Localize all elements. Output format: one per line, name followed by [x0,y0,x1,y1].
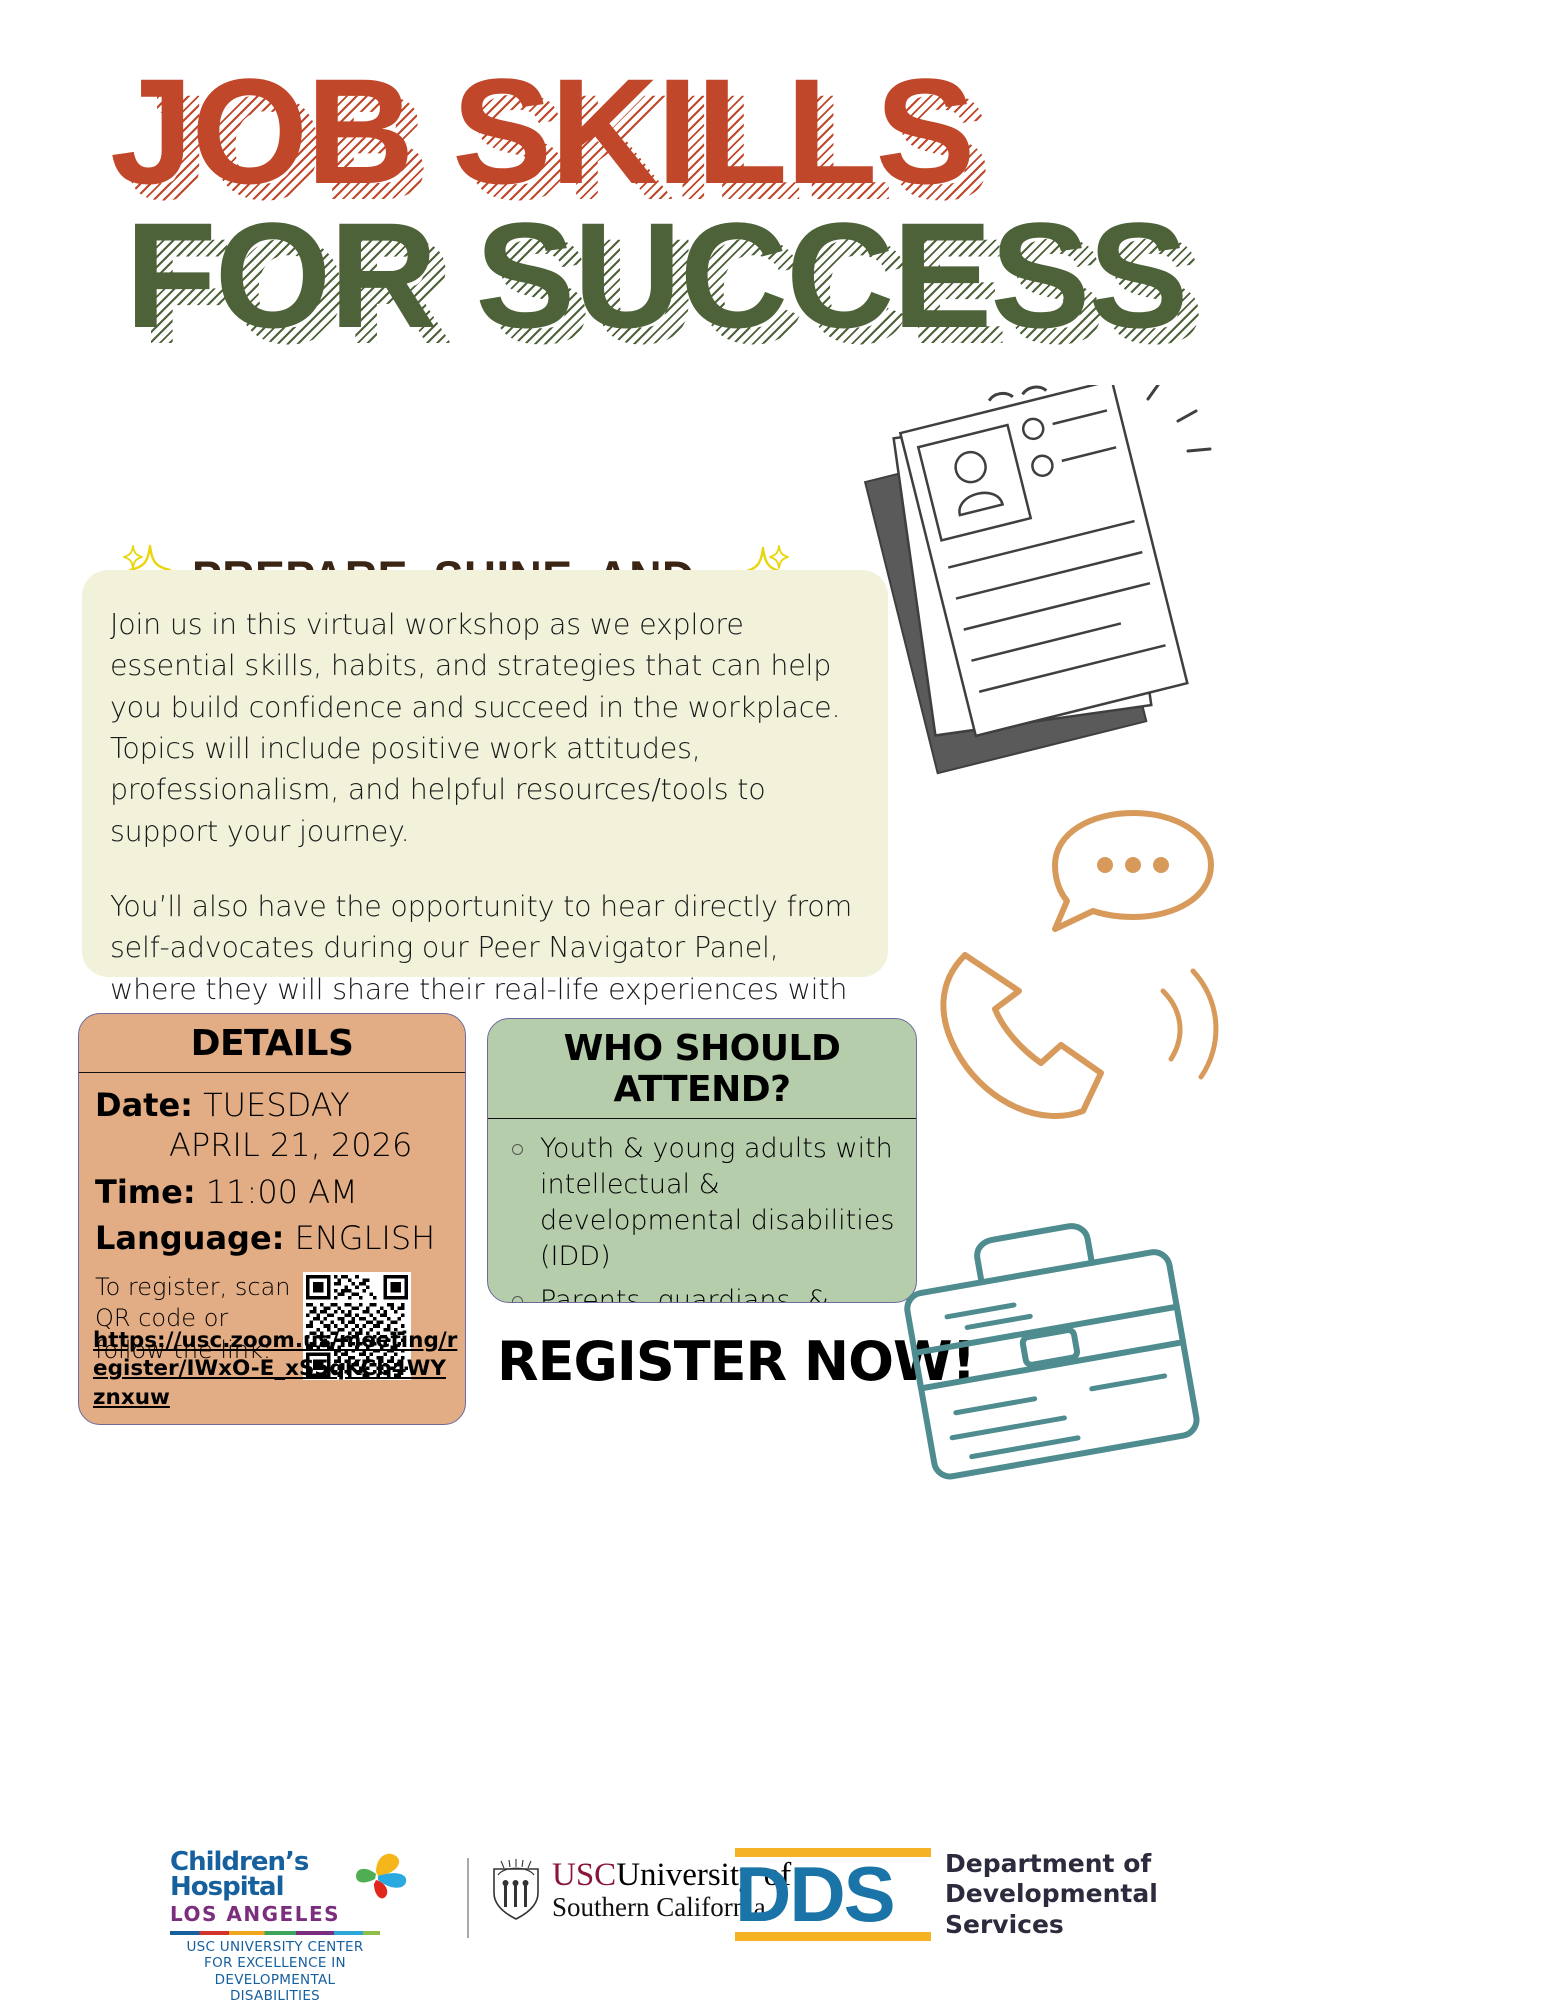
briefcase-icon [880,1180,1240,1565]
chla-subtitle-line-2: FOR EXCELLENCE IN [170,1955,380,1971]
chla-city: LOS ANGELES [170,1902,340,1926]
details-language-row: Language: ENGLISH [95,1218,465,1258]
details-date-value: TUESDAY [203,1086,350,1124]
chla-color-bar [170,1931,380,1935]
dds-logo: DDS Department of Developmental Services [735,1848,1158,1941]
flyer-page: JOB SKILLS JOB SKILLS FOR SUCCESS FOR SU… [0,0,1545,1999]
list-item: Parents, guardians, & family members [506,1283,896,1303]
footer-logos: Children’s Hospital LOS ANGELES USC UNIV… [0,1840,1545,2000]
list-item: Youth & young adults with intellectual &… [506,1131,896,1275]
details-date-value-2: APRIL 21, 2026 [169,1125,465,1165]
dds-word-1: Department of [945,1849,1158,1880]
details-date-row: Date: TUESDAY APRIL 21, 2026 [95,1085,465,1166]
chla-subtitle-line-3: DEVELOPMENTAL DISABILITIES [170,1972,380,2005]
butterfly-icon [346,1850,408,1902]
details-time-label: Time: [95,1173,196,1211]
details-language-label: Language: [95,1219,284,1257]
details-time-value: 11:00 AM [206,1173,358,1211]
who-should-attend-card: WHO SHOULD ATTEND? Youth & young adults … [487,1018,917,1303]
chla-name-line-2: Hospital [170,1875,340,1900]
dds-letters: DDS [735,1861,931,1928]
phone-speech-bubble-icon [905,805,1235,1150]
attend-list: Youth & young adults with intellectual &… [488,1119,916,1303]
title-block: JOB SKILLS JOB SKILLS FOR SUCCESS FOR SU… [0,62,1480,344]
chla-logo: Children’s Hospital LOS ANGELES USC UNIV… [170,1850,445,2005]
dds-word-3: Services [945,1910,1158,1941]
dds-word-2: Developmental [945,1879,1158,1910]
details-time-row: Time: 11:00 AM [95,1172,465,1212]
dds-mark: DDS [735,1848,931,1941]
usc-acronym: USC [552,1857,616,1893]
attend-heading: WHO SHOULD ATTEND? [488,1019,916,1119]
resume-documents-icon [858,385,1248,810]
details-body: Date: TUESDAY APRIL 21, 2026 Time: 11:00… [79,1073,465,1258]
registration-link[interactable]: https://usc.zoom.us/meeting/register/IWx… [93,1327,458,1412]
details-heading: DETAILS [79,1014,465,1073]
dds-wordmark: Department of Developmental Services [945,1849,1158,1941]
footer-divider [467,1858,469,1938]
title-line-1-text: JOB SKILLS [110,47,973,215]
details-date-label: Date: [95,1086,193,1124]
chla-subtitle-line-1: USC UNIVERSITY CENTER [170,1939,380,1955]
description-paragraph-1: Join us in this virtual workshop as we e… [110,604,860,852]
details-language-value: ENGLISH [295,1219,436,1257]
title-line-2: FOR SUCCESS FOR SUCCESS [125,206,1480,344]
title-line-2-text: FOR SUCCESS [125,191,1186,359]
details-card: DETAILS Date: TUESDAY APRIL 21, 2026 Tim… [78,1013,466,1425]
usc-shield-icon [490,1859,542,1921]
description-card: Join us in this virtual workshop as we e… [82,570,888,977]
chla-subtitle: USC UNIVERSITY CENTER FOR EXCELLENCE IN … [170,1939,380,2005]
dds-bar-bottom [735,1932,931,1941]
title-line-1: JOB SKILLS JOB SKILLS [110,62,1480,200]
